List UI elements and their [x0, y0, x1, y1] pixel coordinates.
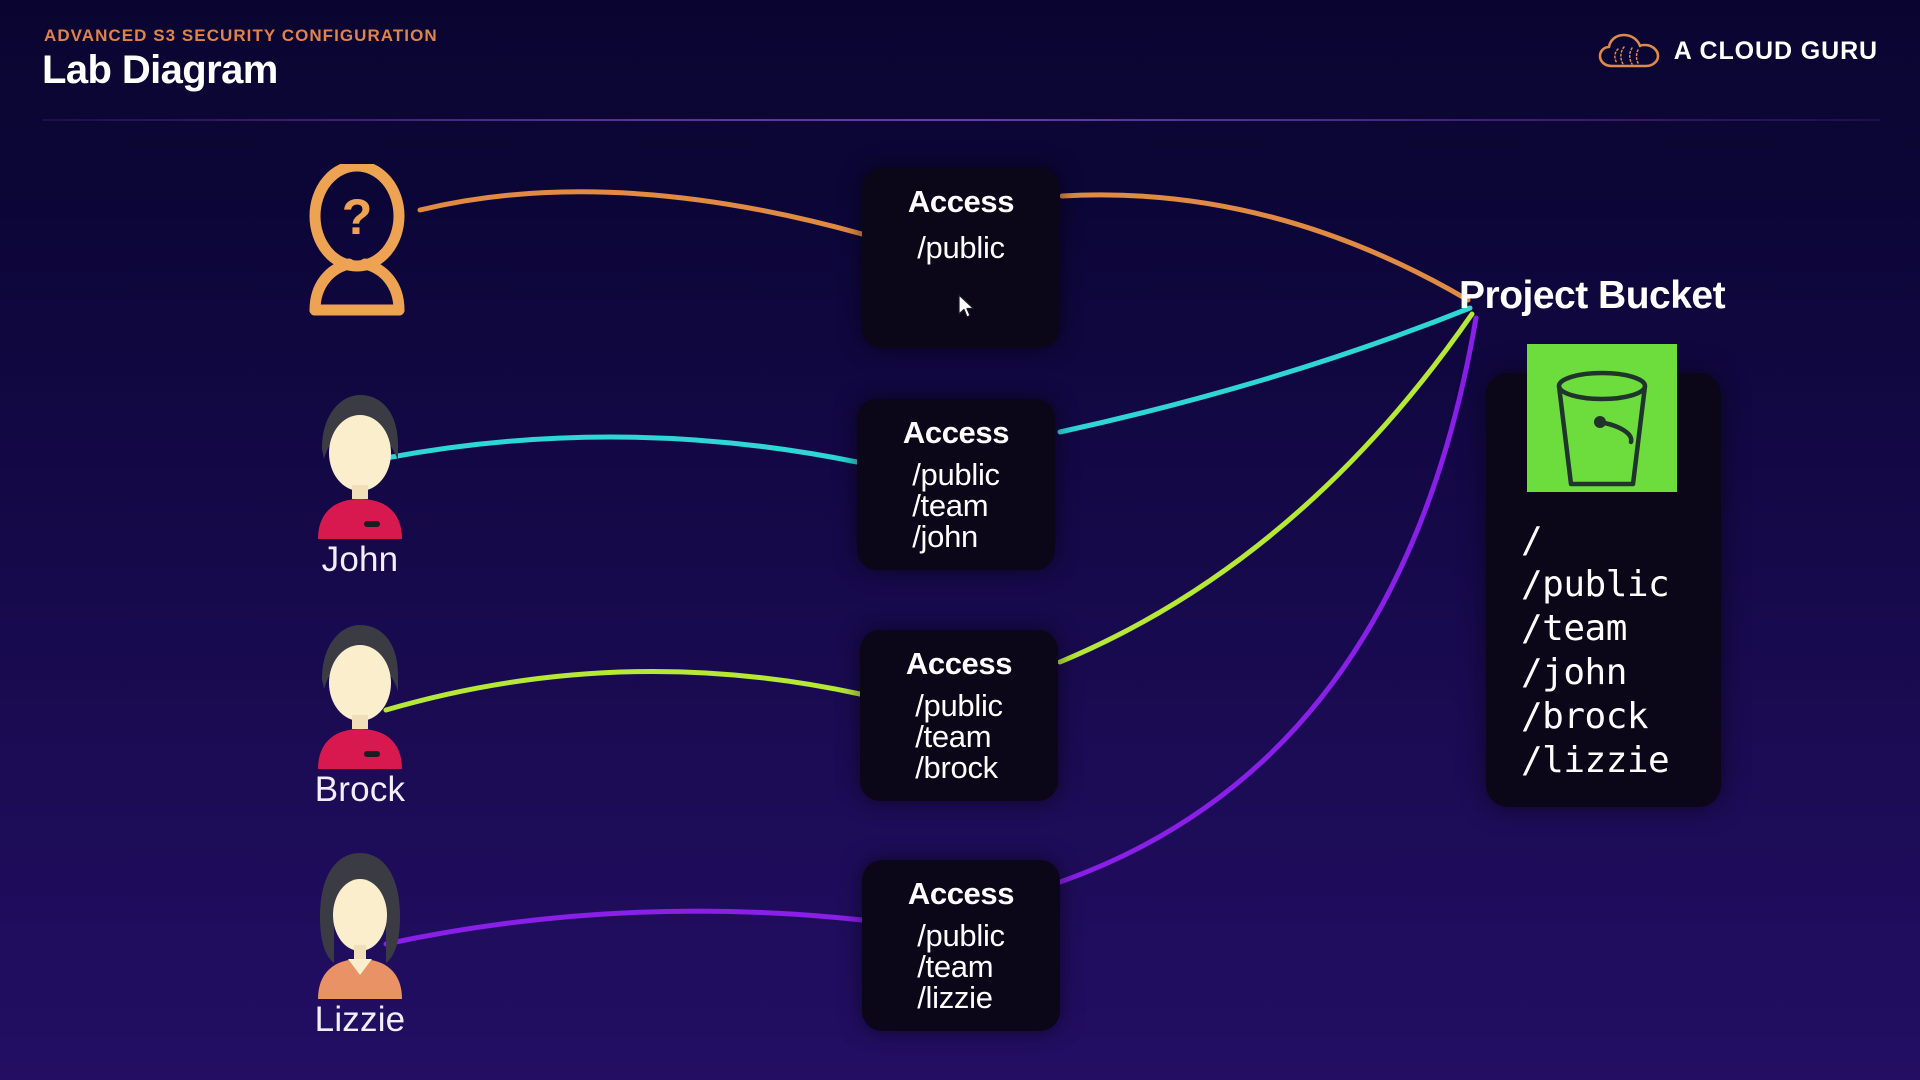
person-name: Brock [245, 771, 475, 810]
access-path: /john [912, 521, 1000, 552]
bucket-path: /public [1521, 567, 1669, 611]
diagram-stage: ? John [0, 122, 1920, 1080]
brand-name: A CLOUD GURU [1674, 37, 1878, 66]
access-title: Access [860, 646, 1058, 682]
bucket-path: / [1521, 523, 1669, 567]
avatar [245, 597, 475, 769]
access-path: /team [915, 721, 1003, 752]
bucket-path: /lizzie [1521, 743, 1669, 787]
avatar [245, 827, 475, 999]
access-title: Access [862, 876, 1060, 912]
access-card-john: Access /public /team /john [857, 399, 1055, 570]
bucket-path: /john [1521, 655, 1669, 699]
person-brock: Brock [245, 597, 475, 810]
bucket-path-list: / /public /team /john /brock /lizzie [1521, 523, 1669, 787]
access-path: /public [912, 459, 1000, 490]
access-card-brock: Access /public /team /brock [860, 630, 1058, 801]
bucket-path: /brock [1521, 699, 1669, 743]
access-path: /brock [915, 752, 1003, 783]
avatar [245, 367, 475, 539]
eyebrow-label: ADVANCED S3 SECURITY CONFIGURATION [44, 26, 438, 46]
access-title: Access [857, 415, 1055, 451]
person-anonymous: ? [242, 144, 472, 318]
access-path-list: /public [917, 232, 1005, 263]
header-divider [42, 119, 1880, 121]
person-john: John [245, 367, 475, 580]
access-card-anonymous: Access /public [862, 168, 1060, 348]
person-name: John [245, 541, 475, 580]
anonymous-user-icon: ? [287, 164, 427, 316]
access-path-list: /public /team /lizzie [917, 920, 1005, 1013]
person-name: Lizzie [245, 1001, 475, 1040]
user-avatar-male-icon [312, 617, 408, 769]
cloud-icon [1598, 30, 1660, 72]
user-avatar-female-icon [312, 847, 408, 999]
user-avatar-male-icon [312, 387, 408, 539]
access-path: /public [917, 232, 1005, 263]
access-path: /team [912, 490, 1000, 521]
wire-anon-to-card [420, 192, 862, 234]
access-path-list: /public /team /john [912, 459, 1000, 552]
bucket-title: Project Bucket [1459, 274, 1725, 318]
svg-text:?: ? [342, 189, 373, 245]
person-lizzie: Lizzie [245, 827, 475, 1040]
access-path: /lizzie [917, 982, 1005, 1013]
page-header: ADVANCED S3 SECURITY CONFIGURATION Lab D… [0, 0, 1920, 122]
wire-lizzie-to-bucket [1060, 318, 1476, 882]
access-card-lizzie: Access /public /team /lizzie [862, 860, 1060, 1031]
access-path: /team [917, 951, 1005, 982]
wire-john-to-bucket [1060, 308, 1470, 432]
access-title: Access [862, 184, 1060, 220]
bucket-path: /team [1521, 611, 1669, 655]
wire-anon-to-bucket [1062, 195, 1468, 300]
avatar: ? [242, 144, 472, 316]
brand-logo-group: A CLOUD GURU [1598, 30, 1878, 72]
access-path: /public [915, 690, 1003, 721]
access-path-list: /public /team /brock [915, 690, 1003, 783]
access-path: /public [917, 920, 1005, 951]
s3-bucket-icon [1527, 344, 1677, 492]
wire-brock-to-bucket [1060, 314, 1472, 662]
page-title: Lab Diagram [42, 48, 278, 93]
mouse-pointer-icon [958, 294, 976, 320]
